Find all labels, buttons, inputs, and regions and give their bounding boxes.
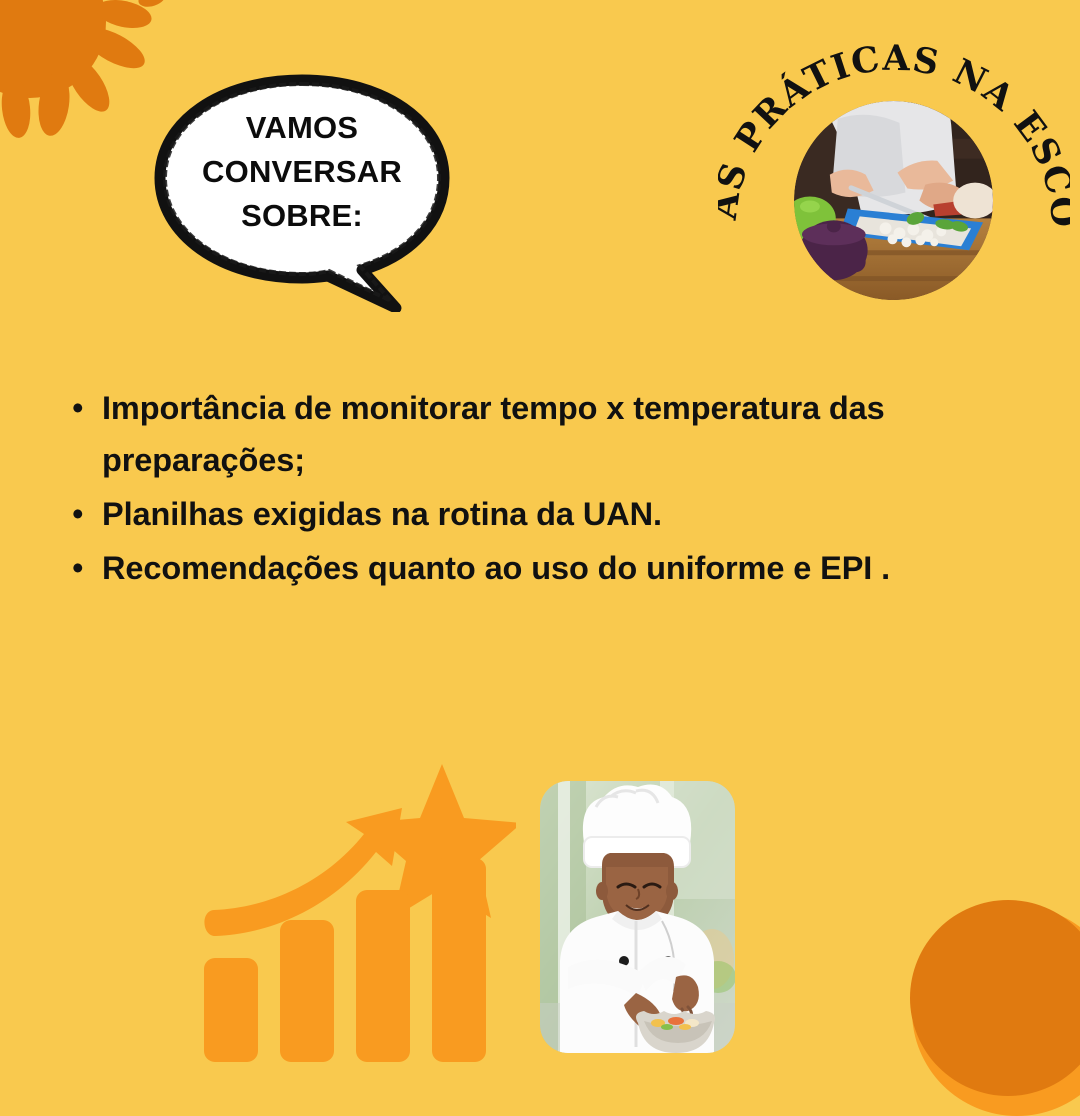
bullet-marker-icon: • (72, 382, 102, 434)
bar-4 (432, 858, 486, 1062)
speech-bubble-line-2: CONVERSAR (182, 150, 422, 194)
bullet-marker-icon: • (72, 542, 102, 594)
badge-photo (794, 101, 993, 300)
speech-bubble-text: VAMOS CONVERSAR SOBRE: (182, 106, 422, 238)
list-item-label: Planilhas exigidas na rotina da UAN. (102, 488, 1032, 540)
growth-chart-icon (196, 762, 516, 1062)
list-item: • Importância de monitorar tempo x tempe… (72, 382, 1032, 486)
bullet-list: • Importância de monitorar tempo x tempe… (72, 382, 1032, 596)
chef-photo (540, 781, 735, 1053)
bar-2 (280, 920, 334, 1062)
bar-3 (356, 890, 410, 1062)
badge: BOAS PRÁTICAS NA ESCOLA (718, 16, 1070, 326)
bar-1 (204, 958, 258, 1062)
list-item: • Planilhas exigidas na rotina da UAN. (72, 488, 1032, 540)
bullet-marker-icon: • (72, 488, 102, 540)
list-item: • Recomendações quanto ao uso do uniform… (72, 542, 1032, 594)
list-item-label: Recomendações quanto ao uso do uniforme … (102, 542, 1032, 594)
speech-bubble-line-3: SOBRE: (182, 194, 422, 238)
speech-bubble: VAMOS CONVERSAR SOBRE: (152, 72, 452, 312)
list-item-label: Importância de monitorar tempo x tempera… (102, 382, 1032, 486)
speech-bubble-line-1: VAMOS (182, 106, 422, 150)
